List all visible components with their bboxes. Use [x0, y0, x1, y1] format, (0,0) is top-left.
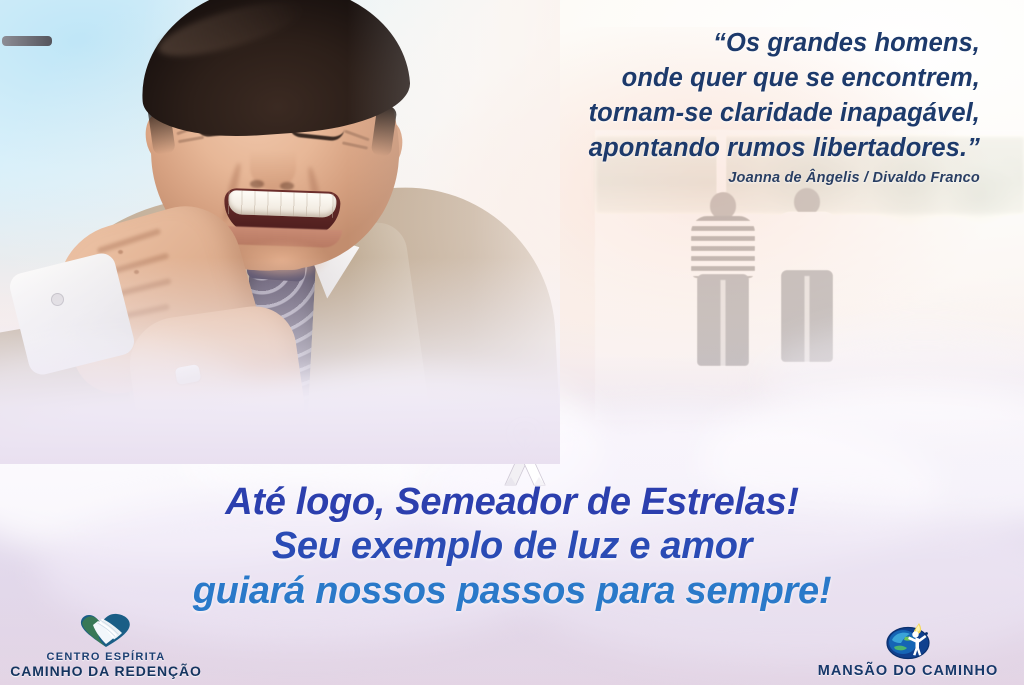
globe-with-figure-logo [883, 620, 933, 660]
freckle [118, 250, 123, 254]
quote-line-1: “Os grandes homens, [340, 26, 980, 61]
logo-left-line-2: CAMINHO DA REDENÇÃO [8, 663, 204, 679]
quote-line-4: apontando rumos libertadores.” [340, 131, 980, 166]
freckle [134, 270, 139, 274]
nostril-right [280, 182, 294, 190]
microphone-ring [2, 36, 52, 46]
logo-right-line-2: MANSÃO DO CAMINHO [802, 663, 1014, 679]
person-legs [781, 270, 833, 362]
quote-line-3: tornam-se claridade inapagável, [340, 96, 980, 131]
logo-centro-espirita-caminho-da-redencao[interactable]: CENTRO ESPÍRITA CAMINHO DA REDENÇÃO [8, 612, 204, 679]
quote-line-2: onde quer que se encontrem, [340, 61, 980, 96]
quote-attribution: Joanna de Ângelis / Divaldo Franco [340, 170, 980, 186]
headline-line-1: Até logo, Semeador de Estrelas! [0, 482, 1024, 522]
headline-block: Até logo, Semeador de Estrelas! Seu exem… [0, 482, 1024, 611]
person-head [794, 188, 820, 215]
person-legs [697, 274, 749, 366]
tribute-poster: “Os grandes homens, onde quer que se enc… [0, 0, 1024, 685]
cuff-button [52, 294, 63, 305]
person-torso [691, 216, 755, 278]
hand-holding-microphone [124, 301, 309, 455]
chin [234, 240, 330, 280]
scene-gate [863, 246, 949, 290]
nostril-left [250, 180, 264, 188]
teeth [228, 190, 337, 218]
headline-line-3: guiará nossos passos para sempre! [0, 571, 1024, 611]
heart-with-hands-logo [78, 612, 134, 648]
person-arm [753, 216, 815, 224]
logo-left-line-1: CENTRO ESPÍRITA [8, 651, 204, 663]
white-awareness-ribbon [489, 411, 561, 489]
quote-text: “Os grandes homens, onde quer que se enc… [340, 26, 980, 166]
person-head [710, 192, 736, 219]
logo-mansao-do-caminho[interactable]: MANSÃO DO CAMINHO [802, 620, 1014, 679]
headline-line-2: Seu exemplo de luz e amor [0, 526, 1024, 566]
